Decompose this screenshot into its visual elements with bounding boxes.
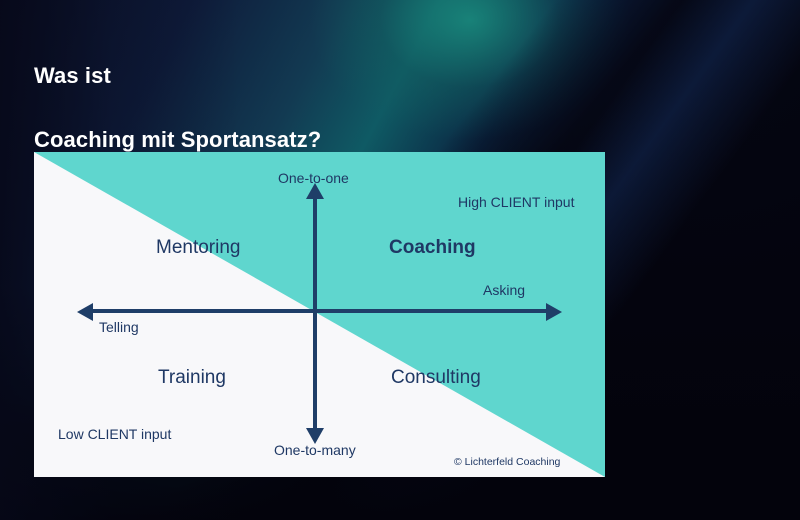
copyright-credit: © Lichterfeld Coaching: [454, 456, 560, 468]
corner-label-low-client-input: Low CLIENT input: [58, 426, 171, 442]
arrow-left-icon: [77, 303, 93, 321]
arrow-right-icon: [546, 303, 562, 321]
quadrant-label-training: Training: [158, 367, 226, 389]
quadrant-label-coaching: Coaching: [389, 237, 476, 259]
slide-title: Was ist Coaching mit Sportansatz?: [34, 28, 321, 187]
quadrant-label-mentoring: Mentoring: [156, 237, 241, 259]
quadrant-diagram: One-to-one One-to-many Telling Asking Hi…: [34, 152, 605, 477]
axis-label-asking: Asking: [483, 282, 525, 298]
slide-title-line-2: Coaching mit Sportansatz?: [34, 124, 321, 156]
axis-label-telling: Telling: [99, 319, 139, 335]
axis-label-one-to-many: One-to-many: [274, 442, 356, 458]
slide-title-line-1: Was ist: [34, 60, 321, 92]
slide-canvas: Was ist Coaching mit Sportansatz? One-to…: [0, 0, 800, 520]
vertical-axis-line: [313, 197, 317, 434]
horizontal-axis-line: [92, 309, 551, 313]
corner-label-high-client-input: High CLIENT input: [458, 194, 574, 210]
quadrant-label-consulting: Consulting: [391, 367, 481, 389]
